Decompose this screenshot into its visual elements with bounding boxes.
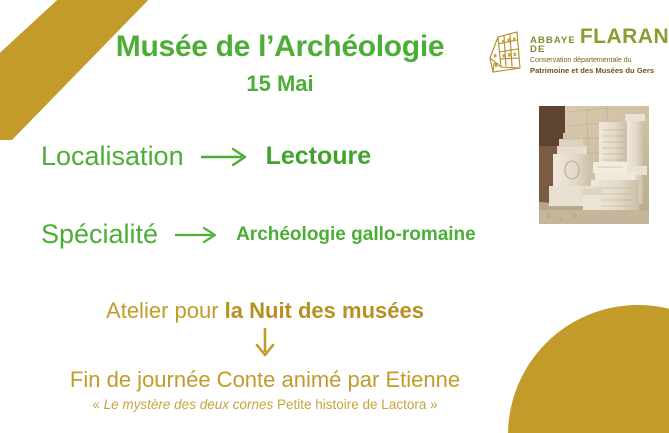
quote-close: »	[426, 397, 437, 412]
specialite-value: Archéologie gallo-romaine	[236, 224, 476, 246]
abbey-building-icon	[484, 28, 526, 74]
logo-flaran-text: FLARAN	[580, 27, 669, 47]
evening-activity-line: Fin de journée Conte animé par Etienne	[0, 367, 530, 393]
logo-subtitle-line-1: Conservation départementale du	[530, 57, 669, 66]
arrow-down-icon	[0, 326, 530, 365]
logo-subtitle-line-2: Patrimoine et des Musées du Gers	[530, 66, 669, 75]
localisation-label: Localisation	[41, 141, 184, 172]
story-title-italic: Le mystère des deux cornes	[104, 397, 274, 412]
logo-abbaye-text: ABBAYE DE	[530, 36, 576, 55]
page-title: Musée de l’Archéologie	[0, 30, 560, 65]
workshop-block: Atelier pour la Nuit des musées Fin de j…	[0, 298, 530, 412]
logo-text-block: ABBAYE DE FLARAN Conservation départemen…	[530, 27, 669, 75]
story-title-line: « Le mystère des deux cornes Petite hist…	[0, 397, 530, 412]
info-row-localisation: Localisation Lectoure	[41, 141, 371, 172]
quote-open: «	[92, 397, 103, 412]
abbaye-de-flaran-logo: ABBAYE DE FLARAN Conservation départemen…	[484, 26, 664, 76]
workshop-headline: Atelier pour la Nuit des musées	[0, 298, 530, 324]
workshop-prefix: Atelier pour	[106, 298, 225, 323]
logo-wordmark: ABBAYE DE FLARAN	[530, 27, 669, 55]
title-block: Musée de l’Archéologie 15 Mai	[0, 30, 560, 97]
roman-stone-altars-photo	[539, 106, 649, 224]
info-row-specialite: Spécialité Archéologie gallo-romaine	[41, 219, 476, 250]
arrow-right-icon	[200, 147, 250, 167]
event-date: 15 Mai	[0, 71, 560, 97]
gold-circle-decoration	[508, 305, 669, 433]
story-subtitle: Petite histoire de Lactora	[273, 397, 426, 412]
arrow-right-icon	[174, 226, 220, 244]
poster-canvas: Musée de l’Archéologie 15 Mai	[0, 0, 669, 433]
localisation-value: Lectoure	[266, 142, 372, 171]
workshop-event-name: la Nuit des musées	[225, 298, 424, 323]
specialite-label: Spécialité	[41, 219, 158, 250]
photo-illustration	[539, 106, 649, 224]
